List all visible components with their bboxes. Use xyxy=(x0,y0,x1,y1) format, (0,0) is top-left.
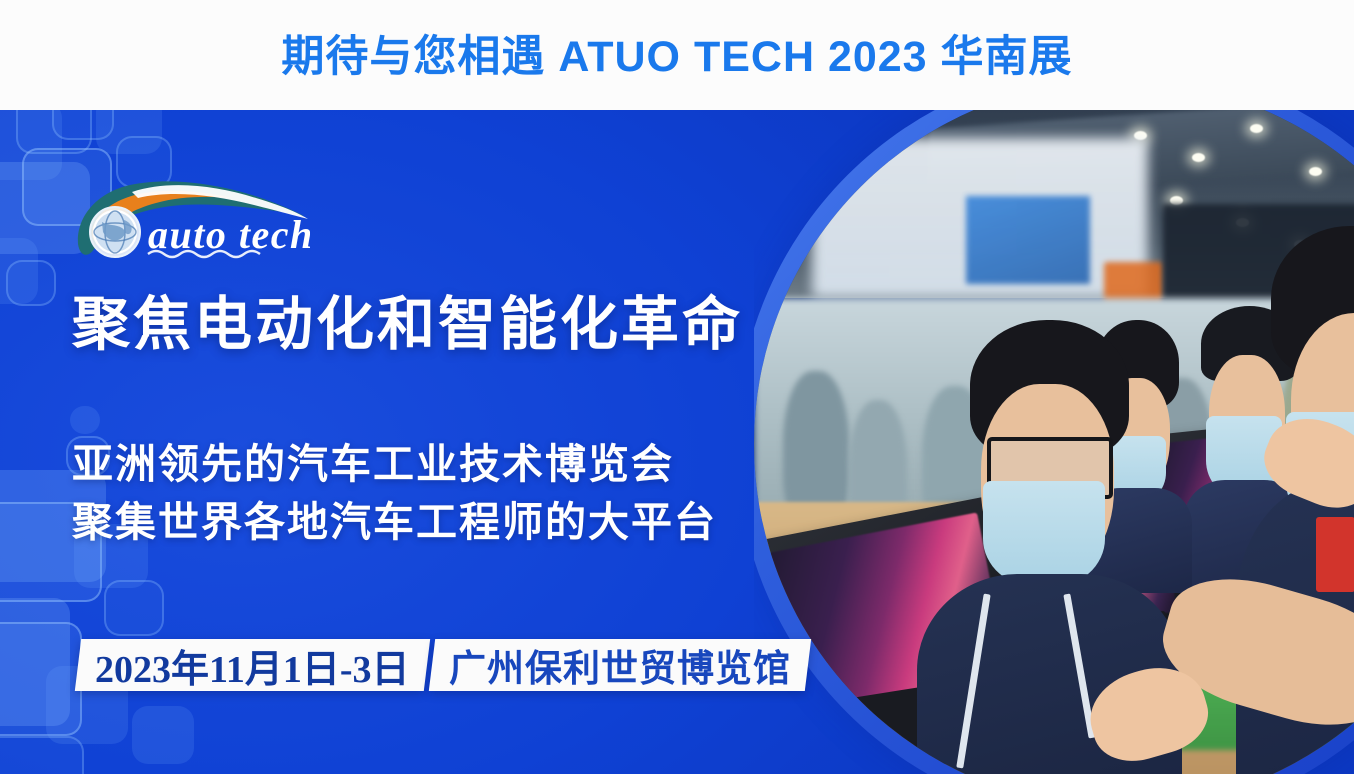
photo-red-label xyxy=(1316,517,1354,593)
photo-ceiling-lamp xyxy=(1192,153,1205,162)
photo-scene xyxy=(754,110,1354,774)
photo-ceiling-lamp xyxy=(1250,124,1263,133)
logo-wordmark-text: auto tech xyxy=(148,212,310,257)
poster-subtitle-line2: 聚集世界各地汽车工程师的大平台 xyxy=(72,502,717,543)
poster-subtitle-line1: 亚洲领先的汽车工业技术博览会 xyxy=(72,444,674,485)
event-date-badge: 2023年11月1日-3日 xyxy=(75,639,430,691)
event-date-text: 2023年11月1日-3日 xyxy=(95,638,410,693)
poster-stage: auto tech 聚焦电动化和智能化革命 亚洲领先的汽车工业技术博览会 聚集世… xyxy=(0,110,1354,774)
page-title: 期待与您相遇 ATUO TECH 2023 华南展 xyxy=(281,36,1072,79)
poster-root: 期待与您相遇 ATUO TECH 2023 华南展 xyxy=(0,0,1354,774)
poster-content: auto tech 聚焦电动化和智能化革命 亚洲领先的汽车工业技术博览会 聚集世… xyxy=(0,110,800,774)
photo-face-mask xyxy=(983,481,1104,588)
event-venue-text: 广州保利世贸博览馆 xyxy=(449,638,791,692)
header-bar: 期待与您相遇 ATUO TECH 2023 华南展 xyxy=(0,0,1354,110)
photo-panel xyxy=(754,110,1354,774)
exhibition-photo xyxy=(754,110,1354,774)
auto-tech-logo: auto tech xyxy=(72,172,310,264)
poster-headline: 聚焦电动化和智能化革命 xyxy=(72,296,743,354)
event-venue-badge: 广州保利世贸博览馆 xyxy=(429,639,811,691)
photo-blue-banner xyxy=(966,196,1090,283)
globe-icon xyxy=(90,207,140,257)
